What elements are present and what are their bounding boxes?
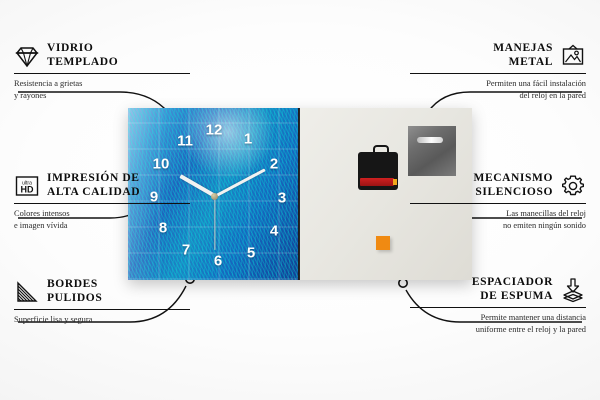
feature-description: Superficie lisa y segura [14,314,190,326]
feature-head: ultra HD IMPRESIÓN DE ALTA CALIDAD [14,172,190,199]
product-infographic: 12 1 2 3 4 5 6 7 8 9 10 11 [0,0,600,400]
feature-title: MECANISMO SILENCIOSO [473,172,553,199]
feature-head: ESPACIADOR DE ESPUMA [410,276,586,303]
clock-numeral-2: 2 [270,157,278,172]
clock-numeral-3: 3 [278,191,286,206]
feature-divider [14,309,190,310]
battery [360,178,394,186]
feature-title-line1: ESPACIADOR [472,276,553,290]
feature-desc-line1: Resistencia a grietas [14,78,190,90]
feature-desc-line2: del reloj en la pared [410,90,586,102]
feature-title: IMPRESIÓN DE ALTA CALIDAD [47,172,140,199]
clock-numeral-12: 12 [206,123,223,138]
feature-desc-line1: Superficie lisa y segura [14,314,190,326]
clock-second-hand [214,196,215,250]
ultra-hd-icon: ultra HD [14,173,40,199]
foam-spacer-icon [560,277,586,303]
callout-dot-spacer [399,279,407,287]
feature-desc-line2: y rayones [14,90,190,102]
feature-head: MANEJAS METAL [410,42,586,69]
feature-desc-line1: Permiten una fácil instalación [410,78,586,90]
feature-desc-line2: uniforme entre el reloj y la pared [410,324,586,336]
feature-desc-line1: Las manecillas del reloj [410,208,586,220]
feature-desc-line1: Colores intensos [14,208,190,220]
feature-divider [410,203,586,204]
feature-bordes-pulidos: BORDES PULIDOS Superficie lisa y segura [14,278,190,326]
feature-divider [14,73,190,74]
clock-center-cap [211,193,218,200]
feature-title: MANEJAS METAL [493,42,553,69]
feature-head: MECANISMO SILENCIOSO [410,172,586,199]
metal-hanger-plate [408,126,456,176]
feature-espaciador-espuma: ESPACIADOR DE ESPUMA Permite mantener un… [410,276,586,336]
clock-numeral-6: 6 [214,254,222,269]
feature-description: Permite mantener una distancia uniforme … [410,312,586,335]
feature-head: VIDRIO TEMPLADO [14,42,190,69]
clock-minute-hand [214,168,265,197]
feature-manejas-metal: MANEJAS METAL Permiten una fácil instala… [410,42,586,102]
feature-title-line2: ALTA CALIDAD [47,186,140,200]
feature-divider [410,73,586,74]
feature-title-line1: VIDRIO [47,42,118,56]
feature-title: ESPACIADOR DE ESPUMA [472,276,553,303]
clock-numeral-11: 11 [177,134,193,149]
clock-numeral-1: 1 [244,132,252,147]
diamond-icon [14,43,40,69]
clock-numeral-4: 4 [270,224,278,239]
feature-title-line2: METAL [493,56,553,70]
feature-description: Resistencia a grietas y rayones [14,78,190,101]
polished-edge-icon [14,279,40,305]
feature-divider [410,307,586,308]
clock-numeral-10: 10 [153,157,170,172]
feature-title-line2: DE ESPUMA [472,290,553,304]
feature-title-line1: IMPRESIÓN DE [47,172,140,186]
feature-divider [14,203,190,204]
svg-text:HD: HD [21,184,34,194]
feature-title-line2: PULIDOS [47,292,102,306]
feature-desc-line1: Permite mantener una distancia [410,312,586,324]
clock-front-face: 12 1 2 3 4 5 6 7 8 9 10 11 [128,108,300,280]
feature-title-line2: SILENCIOSO [473,186,553,200]
feature-title: VIDRIO TEMPLADO [47,42,118,69]
clock-numeral-8: 8 [159,221,167,236]
feature-vidrio-templado: VIDRIO TEMPLADO Resistencia a grietas y … [14,42,190,102]
feature-mecanismo-silencioso: MECANISMO SILENCIOSO Las manecillas del … [410,172,586,232]
feature-desc-line2: no emiten ningún sonido [410,220,586,232]
feature-title-line2: TEMPLADO [47,56,118,70]
clock-numeral-9: 9 [150,190,158,205]
picture-hanger-icon [560,43,586,69]
feature-title-line1: MECANISMO [473,172,553,186]
clock-numeral-7: 7 [182,243,190,258]
feature-title-line1: MANEJAS [493,42,553,56]
clock-numeral-5: 5 [247,246,255,261]
gear-icon [560,173,586,199]
feature-description: Las manecillas del reloj no emiten ningú… [410,208,586,231]
feature-description: Permiten una fácil instalación del reloj… [410,78,586,101]
feature-title-line1: BORDES [47,278,102,292]
feature-head: BORDES PULIDOS [14,278,190,305]
foam-spacer-pad [376,236,390,250]
feature-title: BORDES PULIDOS [47,278,102,305]
